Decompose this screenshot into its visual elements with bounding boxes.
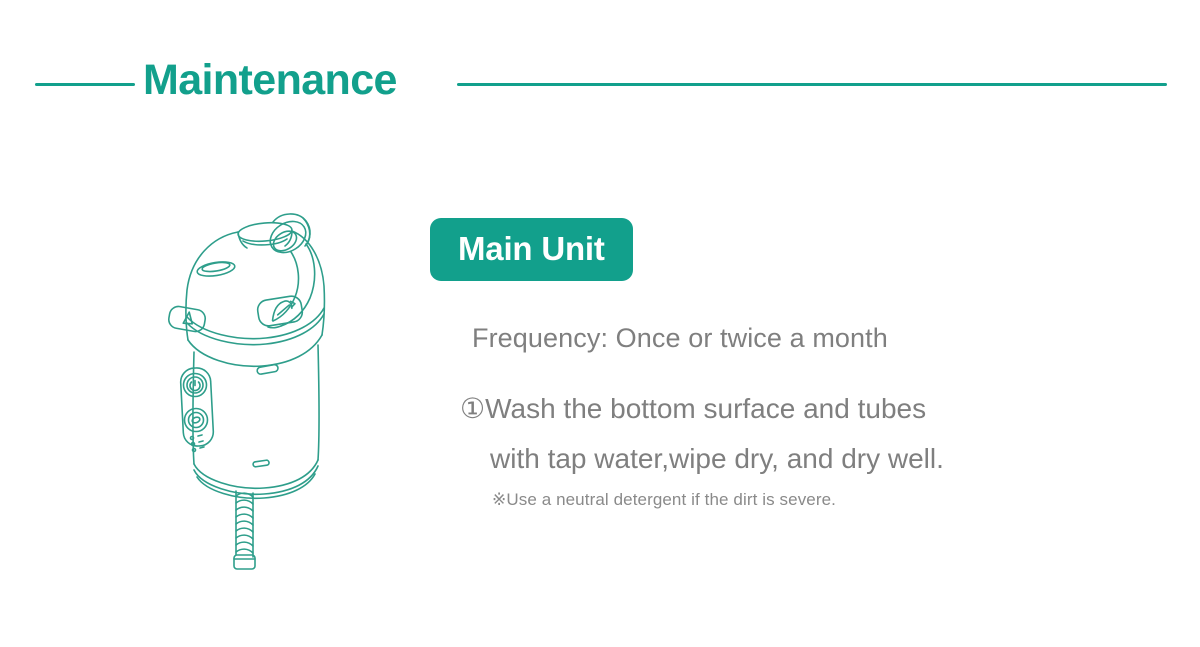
note-text: ※Use a neutral detergent if the dirt is … bbox=[492, 490, 1130, 510]
hose-coil-2 bbox=[236, 500, 253, 504]
content-column: Main Unit Frequency: Once or twice a mon… bbox=[430, 218, 1130, 510]
step-1-marker: ① bbox=[460, 393, 485, 424]
side-button-right bbox=[256, 295, 304, 328]
status-badge-main-unit: Main Unit bbox=[430, 218, 633, 281]
top-port-inner bbox=[202, 261, 231, 273]
body-bottom bbox=[194, 460, 318, 488]
hose-end-cap bbox=[234, 555, 255, 569]
page-title: Maintenance bbox=[143, 49, 397, 111]
water-flosser-device-illustration bbox=[140, 180, 390, 600]
indicator-dot-1 bbox=[191, 437, 194, 440]
body-vent-lower bbox=[253, 460, 270, 467]
hose-coil-4 bbox=[236, 514, 253, 518]
header-rule-left bbox=[35, 83, 135, 86]
dome-seam-2 bbox=[187, 314, 324, 345]
steps-list: ①Wash the bottom surface and tubes with … bbox=[460, 384, 1130, 484]
nozzle-arm-inner bbox=[273, 252, 298, 321]
side-button-right-glyph-a bbox=[270, 300, 294, 320]
step-1-line-2: with tap water,wipe dry, and dry well. bbox=[460, 434, 1130, 484]
indicator-tick-2 bbox=[199, 441, 203, 442]
mode-button-inner bbox=[189, 413, 204, 428]
frequency-text: Frequency: Once or twice a month bbox=[472, 323, 1130, 354]
device-line-art bbox=[140, 180, 390, 600]
hose-coil-6 bbox=[236, 528, 253, 532]
body-right bbox=[318, 345, 319, 460]
hose-coil-9 bbox=[236, 549, 253, 553]
hose-coil-8 bbox=[236, 542, 253, 546]
indicator-tick-1 bbox=[198, 435, 202, 436]
indicator-tick-3 bbox=[200, 447, 204, 448]
header-rule-right bbox=[457, 83, 1167, 86]
maintenance-page: Maintenance bbox=[0, 0, 1200, 647]
hose-coil-7 bbox=[236, 535, 253, 539]
nozzle-tip-outer bbox=[264, 215, 311, 259]
step-1-line-1: Wash the bottom surface and tubes bbox=[485, 393, 926, 424]
dome-bottom-rim bbox=[188, 335, 322, 366]
page-header: Maintenance bbox=[0, 55, 1200, 115]
hose-coil-3 bbox=[236, 507, 253, 511]
hose-coil-5 bbox=[236, 521, 253, 525]
